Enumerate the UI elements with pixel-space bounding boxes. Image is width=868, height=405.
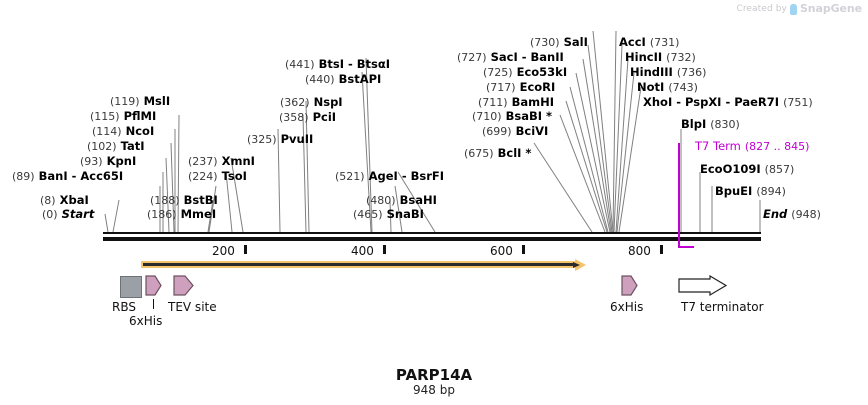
enzyme-label-nspi: (362) NspI — [280, 96, 343, 109]
feature-label-t7-term: T7 Term (827 .. 845) — [695, 140, 809, 153]
enzyme-label-agei-bsrfi: (521) AgeI - BsrFI — [335, 170, 444, 183]
feature-label-t7-terminator: T7 terminator — [681, 300, 764, 314]
t7-term-marker-line — [678, 143, 680, 248]
feature-label-6xhis-left: 6xHis — [129, 314, 162, 328]
feature-label-6xhis-right: 6xHis — [610, 300, 643, 314]
sequence-map-canvas: Created by SnapGene — [0, 0, 868, 405]
enzyme-label-tati: (102) TatI — [87, 140, 145, 153]
enzyme-label-blpi: BlpI (830) — [681, 118, 740, 131]
enzyme-label-btsi-btsai: (441) BtsI - BtsαI — [285, 58, 390, 71]
feature-tev-site-arrow[interactable] — [173, 275, 195, 301]
enzyme-label-noti: NotI (743) — [637, 81, 698, 94]
enzyme-label-bstbi: (188) BstBI — [150, 194, 218, 207]
enzyme-label-hindiii: HindIII (736) — [630, 66, 706, 79]
enzyme-label-bpuei: BpuEI (894) — [715, 185, 786, 198]
ruler-tick-800 — [660, 245, 663, 254]
ruler-tick-label-400: 400 — [351, 244, 374, 258]
enzyme-label-kpni: (93) KpnI — [80, 155, 136, 168]
feature-t7-terminator-arrow[interactable] — [678, 275, 728, 301]
enzyme-label-bcli: (675) BclI * — [464, 147, 531, 160]
enzyme-label-eco53ki: (725) Eco53kI — [483, 66, 567, 79]
enzyme-label-bsabi: (710) BsaBI * — [472, 110, 552, 123]
enzyme-label-bstapi: (440) BstAPI — [305, 73, 381, 86]
enzyme-label-acci: AccI (731) — [619, 36, 679, 49]
enzyme-label-tsoi: (224) TsoI — [188, 170, 247, 183]
ruler-tick-label-800: 800 — [628, 244, 651, 258]
ruler-line-thick — [103, 237, 761, 241]
watermark-prefix: Created by — [736, 4, 787, 14]
enzyme-label-bani-acc65i: (89) BanI - Acc65I — [12, 170, 123, 183]
enzyme-label-pcii: (358) PciI — [279, 111, 336, 124]
enzyme-label-bsahi: (480) BsaHI — [366, 194, 437, 207]
ruler-tick-label-600: 600 — [490, 244, 513, 258]
enzyme-label-ncoi: (114) NcoI — [92, 125, 154, 138]
enzyme-label-snabi: (465) SnaBI — [353, 208, 424, 221]
construct-length: 948 bp — [0, 383, 868, 397]
enzyme-label-sali: (730) SalI — [530, 36, 588, 49]
ruler-tick-label-200: 200 — [212, 244, 235, 258]
ruler-tick-400 — [383, 245, 386, 254]
feature-6xhis-left-tick — [153, 299, 154, 309]
feature-label-tev-site: TEV site — [168, 300, 217, 314]
enzyme-label-ecoo109i: EcoO109I (857) — [700, 163, 794, 176]
page-title: PARP14A — [0, 366, 868, 384]
watermark-brand: SnapGene — [800, 2, 862, 15]
enzyme-label-xhoi-pspxi-paer7i: XhoI - PspXI - PaeR7I (751) — [643, 96, 813, 109]
enzyme-label-end: End (948) — [763, 208, 821, 221]
ruler-line-thin — [103, 232, 761, 234]
enzyme-label-saci-banii: (727) SacI - BanII — [457, 51, 564, 64]
feature-6xhis-left-arrow[interactable] — [145, 275, 163, 301]
cds-orange-arrow — [141, 261, 591, 273]
snapgene-watermark: Created by SnapGene — [736, 2, 862, 15]
enzyme-label-hincii: HincII (732) — [625, 51, 696, 64]
enzyme-label-bcivi: (699) BciVI — [482, 125, 548, 138]
enzyme-label-pflmi: (115) PflMI — [90, 110, 156, 123]
enzyme-label-xbai: (8) XbaI — [40, 194, 89, 207]
ruler-tick-600 — [522, 245, 525, 254]
enzyme-label-msli: (119) MslI — [110, 95, 170, 108]
enzyme-label-mmei: (186) MmeI — [147, 208, 216, 221]
enzyme-label-pvuii: (325) PvuII — [247, 133, 313, 146]
enzyme-label-ecori: (717) EcoRI — [486, 81, 555, 94]
t7-term-marker-foot — [678, 246, 694, 248]
snapgene-logo-icon — [790, 4, 797, 15]
enzyme-label-xmni: (237) XmnI — [188, 155, 255, 168]
feature-6xhis-right-arrow[interactable] — [621, 275, 639, 301]
enzyme-label-bamhi: (711) BamHI — [478, 96, 554, 109]
feature-label-rbs: RBS — [112, 300, 136, 314]
ruler-tick-200 — [244, 245, 247, 254]
enzyme-label-start: (0) Start — [42, 208, 94, 221]
feature-rbs-box[interactable] — [120, 276, 142, 298]
